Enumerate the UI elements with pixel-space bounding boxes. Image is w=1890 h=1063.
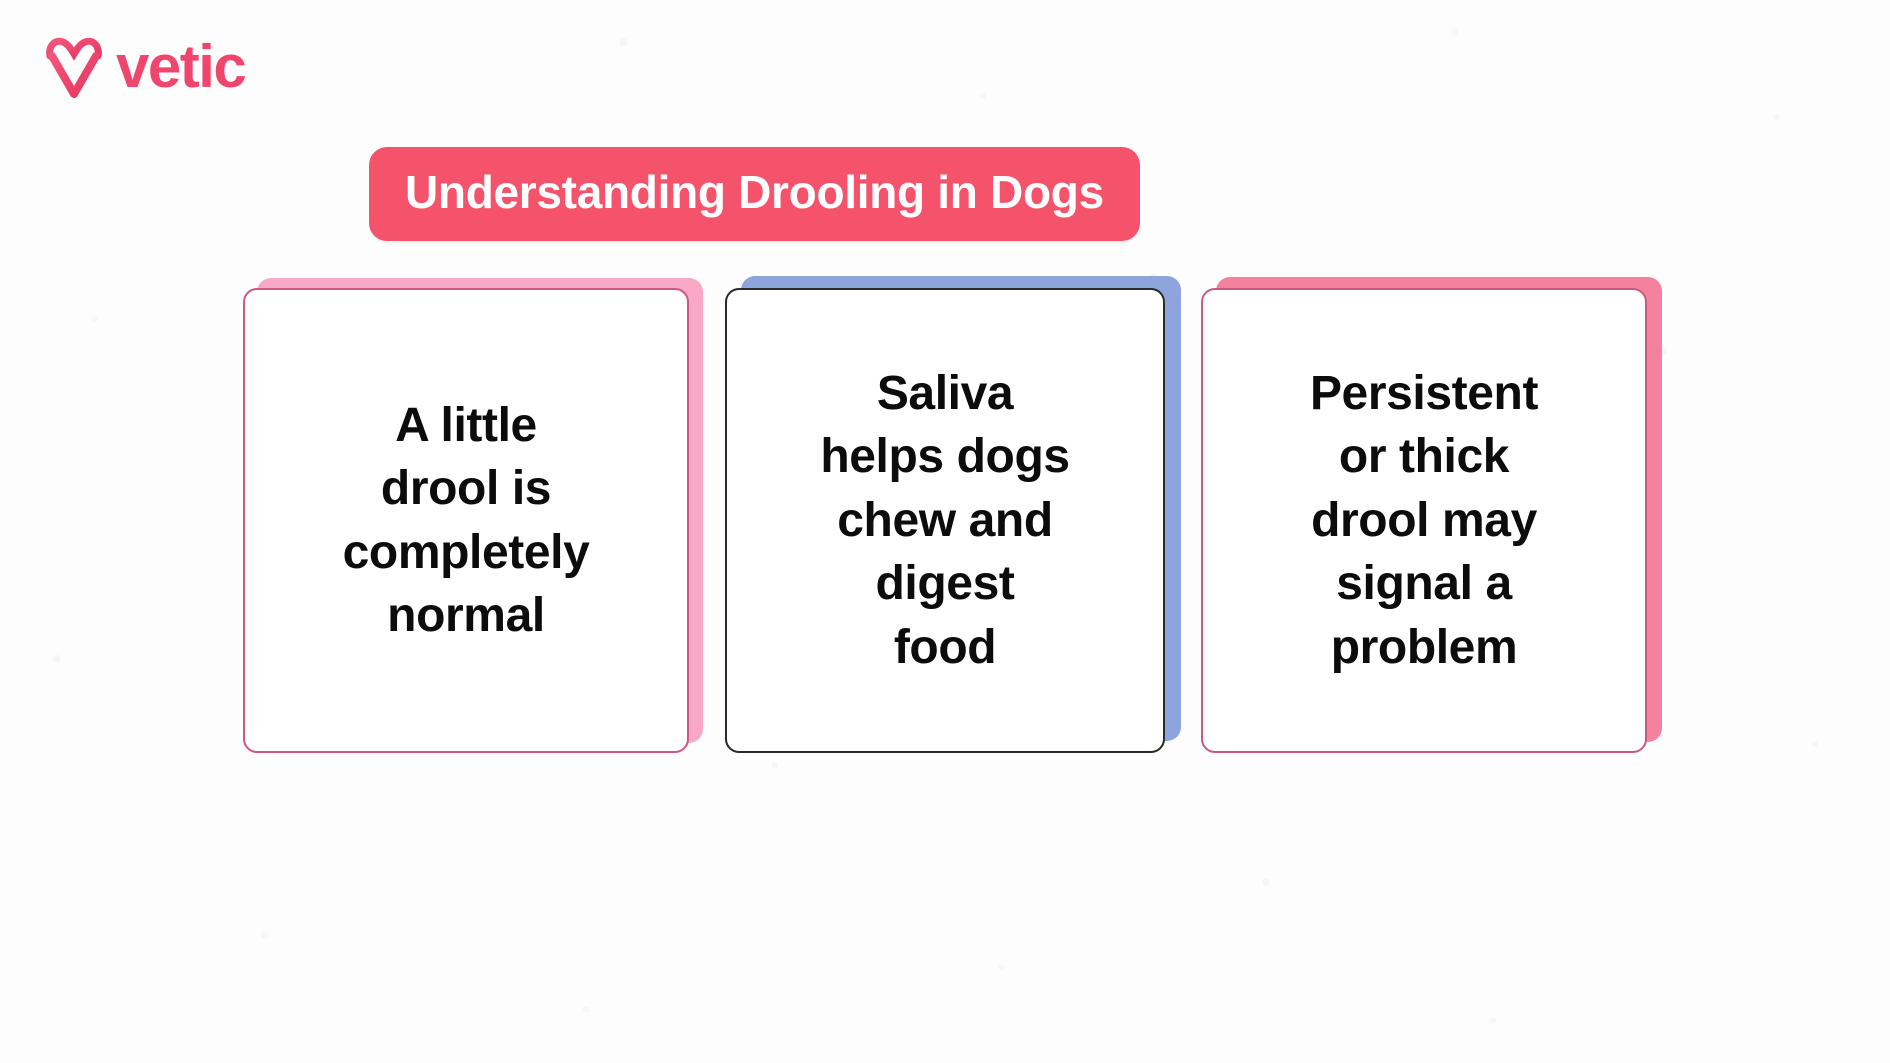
card-2-face: Saliva helps dogs chew and digest food [725, 288, 1165, 753]
card-1-face: A little drool is completely normal [243, 288, 689, 753]
info-card-1: A little drool is completely normal [243, 288, 689, 753]
card-3-face: Persistent or thick drool may signal a p… [1201, 288, 1647, 753]
brand-logo[interactable]: vetic [46, 36, 245, 98]
card-1-text: A little drool is completely normal [343, 394, 590, 647]
heart-v-logo-icon [46, 36, 102, 98]
info-card-2: Saliva helps dogs chew and digest food [725, 288, 1165, 753]
page-title: Understanding Drooling in Dogs [405, 169, 1104, 215]
page-title-banner: Understanding Drooling in Dogs [369, 147, 1140, 241]
title-banner-background: Understanding Drooling in Dogs [369, 147, 1140, 241]
info-card-3: Persistent or thick drool may signal a p… [1201, 288, 1647, 753]
card-3-text: Persistent or thick drool may signal a p… [1310, 362, 1538, 679]
brand-name: vetic [116, 37, 245, 97]
info-cards-row: A little drool is completely normal Sali… [0, 288, 1890, 753]
card-2-text: Saliva helps dogs chew and digest food [820, 362, 1069, 679]
